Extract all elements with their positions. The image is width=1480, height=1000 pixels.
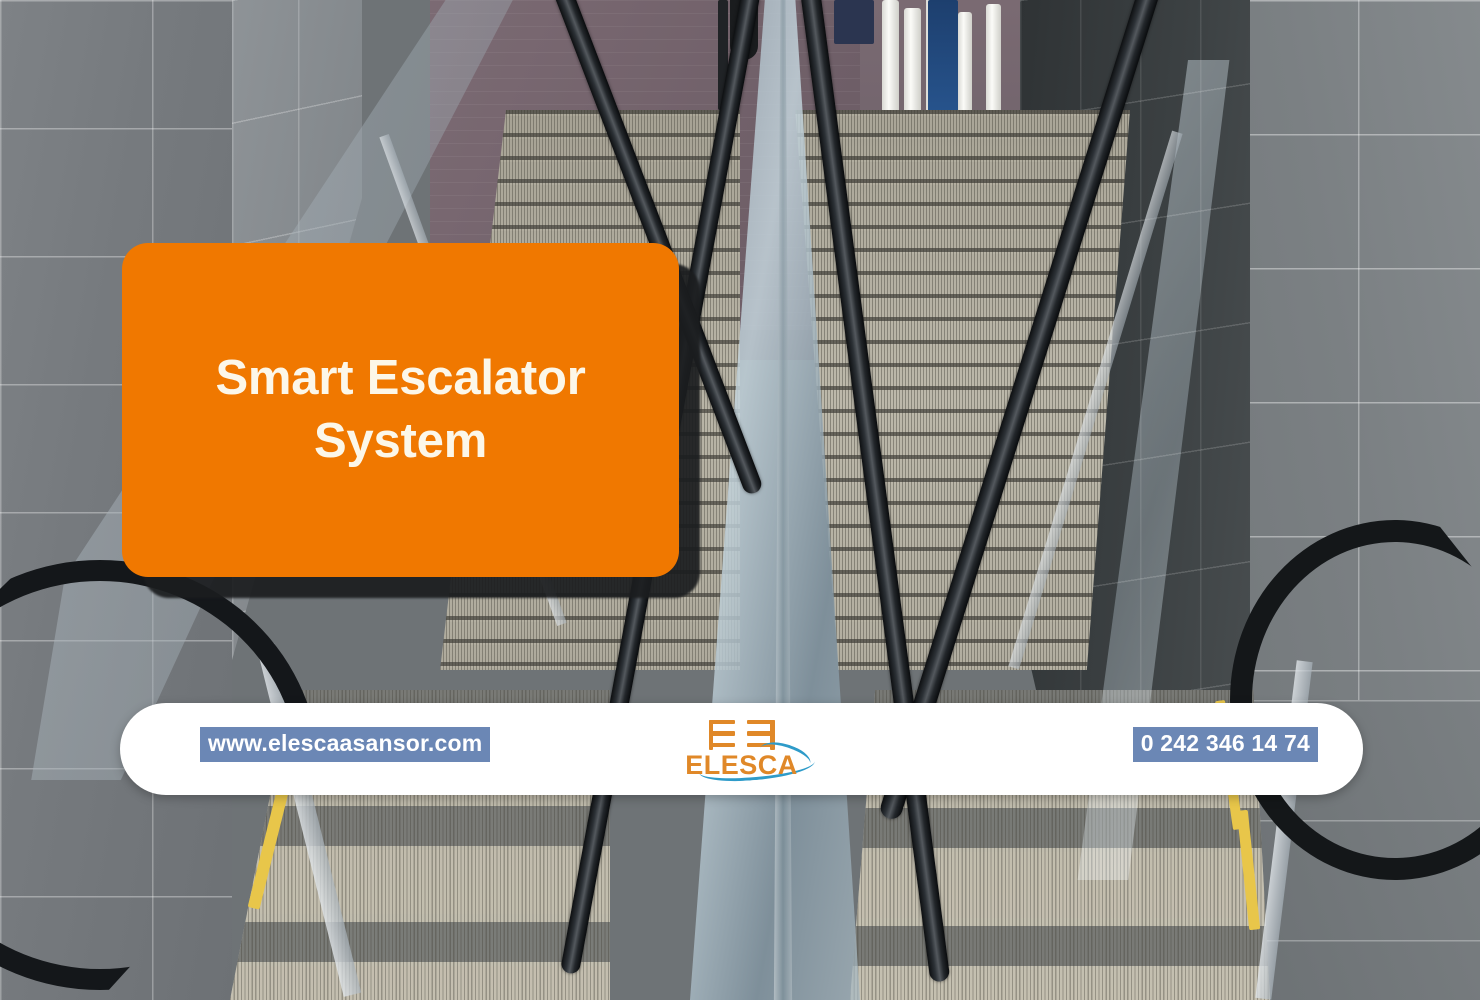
elesca-logo[interactable]: ELESCA (676, 709, 808, 789)
page-title-line-1: Smart Escalator (215, 351, 585, 405)
footer-bar: www.elescaasansor.com ELESCA 0 242 346 1… (120, 703, 1363, 795)
phone-number[interactable]: 0 242 346 14 74 (1133, 727, 1318, 762)
website-container[interactable]: www.elescaasansor.com (200, 727, 490, 762)
phone-container[interactable]: 0 242 346 14 74 (1133, 727, 1318, 762)
banner-canvas: Smart Escalator System www.elescaasansor… (0, 0, 1480, 1000)
elesca-wordmark: ELESCA (685, 750, 798, 780)
website-link[interactable]: www.elescaasansor.com (200, 727, 490, 762)
page-title: Smart Escalator System (189, 347, 611, 472)
backdrop-sign (834, 0, 874, 44)
title-card: Smart Escalator System (122, 243, 679, 577)
page-title-line-2: System (314, 414, 487, 468)
